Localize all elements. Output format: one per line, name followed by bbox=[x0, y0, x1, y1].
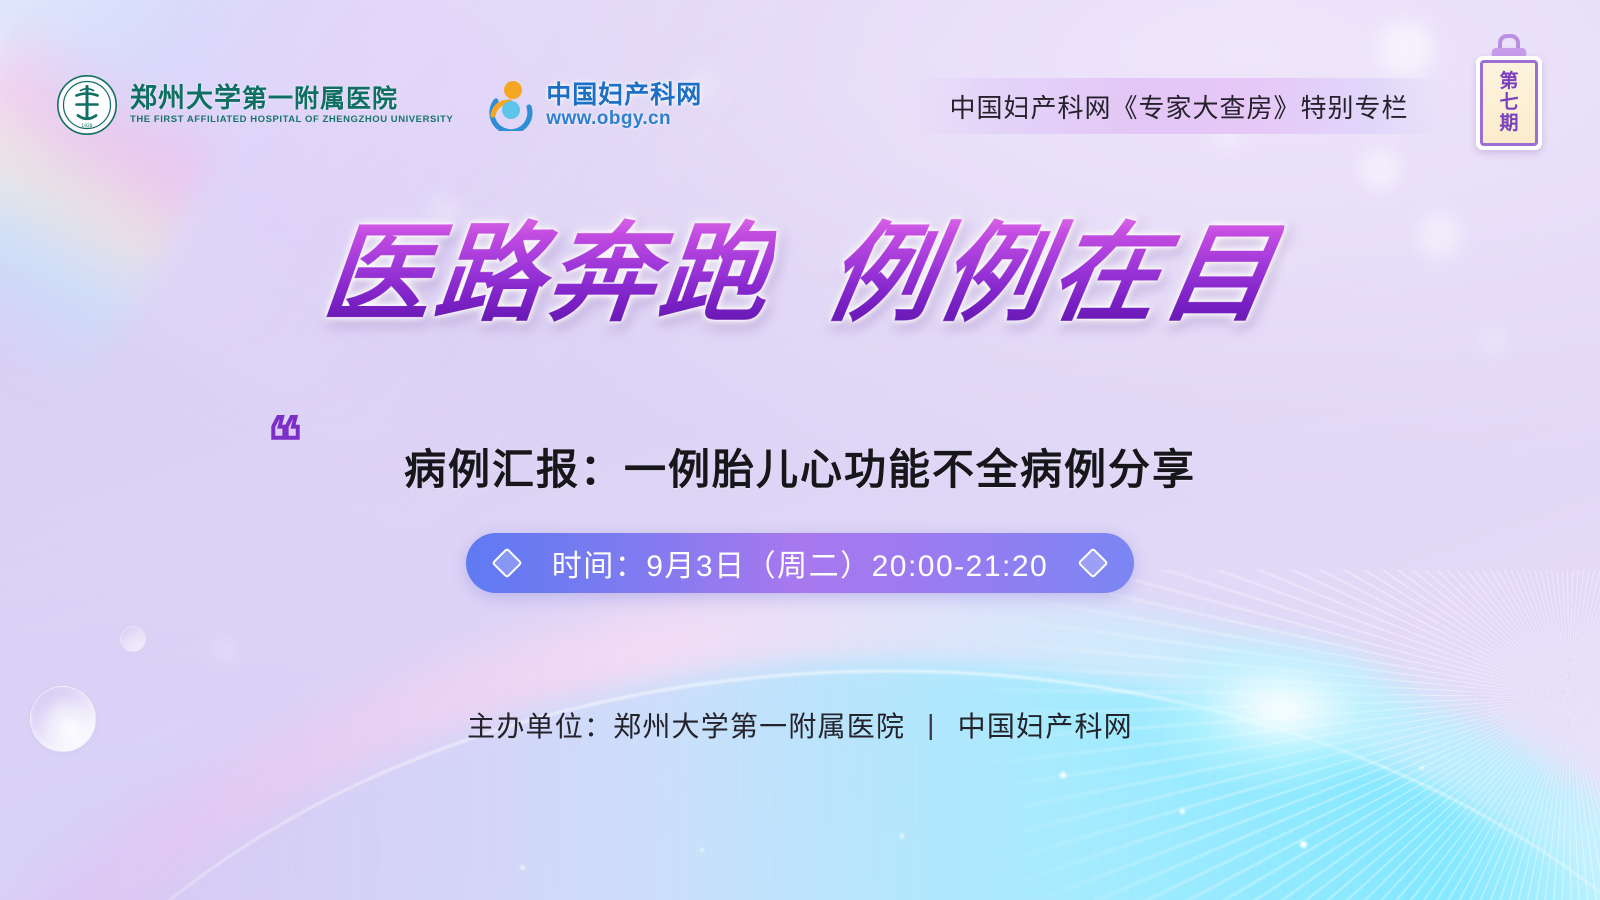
obgy-logo: 中国妇产科网 www.obgy.cn bbox=[487, 79, 702, 131]
hospital-logo: 1928 郑州大学第一附属医院 THE FIRST AFFILIATED HOS… bbox=[56, 74, 453, 136]
obgy-person-icon bbox=[487, 79, 537, 131]
organizer-name-1: 郑州大学第一附属医院 bbox=[613, 705, 905, 745]
organizer-label: 主办单位： bbox=[467, 705, 613, 745]
tag-char: 第 bbox=[1499, 72, 1518, 92]
tag-body: 第 七 期 bbox=[1476, 56, 1542, 150]
main-title-line-2: 例例在目 bbox=[817, 212, 1287, 336]
hospital-name-cn: 郑州大学第一附属医院 bbox=[130, 85, 453, 112]
quote-mark-icon: ❝ bbox=[268, 410, 299, 472]
tag-char: 期 bbox=[1499, 114, 1518, 134]
hospital-seal-icon: 1928 bbox=[56, 74, 118, 136]
poster-header: 1928 郑州大学第一附属医院 THE FIRST AFFILIATED HOS… bbox=[0, 0, 1600, 172]
bokeh-circle bbox=[215, 640, 235, 660]
column-banner-text: 中国妇产科网《专家大查房》特别专栏 bbox=[949, 88, 1408, 125]
organizer-row: 主办单位： 郑州大学第一附属医院 | 中国妇产科网 bbox=[0, 705, 1600, 745]
diamond-icon-right bbox=[1078, 547, 1109, 578]
poster-canvas: 1928 郑州大学第一附属医院 THE FIRST AFFILIATED HOS… bbox=[0, 0, 1600, 900]
tag-char: 七 bbox=[1499, 93, 1518, 113]
hospital-name-block: 郑州大学第一附属医院 THE FIRST AFFILIATED HOSPITAL… bbox=[130, 85, 453, 125]
tag-inner: 第 七 期 bbox=[1480, 60, 1538, 146]
main-title-line-1: 医路奔跑 bbox=[317, 212, 778, 336]
subtitle-text: 病例汇报：一例胎儿心功能不全病例分享 bbox=[404, 436, 1196, 497]
schedule-pill: 时间：9月3日（周二）20:00-21:20 bbox=[466, 533, 1135, 593]
obgy-url: www.obgy.cn bbox=[546, 109, 702, 128]
obgy-text-block: 中国妇产科网 www.obgy.cn bbox=[546, 82, 702, 128]
obgy-name-cn: 中国妇产科网 bbox=[546, 82, 702, 108]
hospital-name-en: THE FIRST AFFILIATED HOSPITAL OF ZHENGZH… bbox=[130, 115, 453, 125]
schedule-text: 时间：9月3日（周二）20:00-21:20 bbox=[552, 541, 1049, 585]
schedule-row: 时间：9月3日（周二）20:00-21:20 bbox=[0, 533, 1600, 593]
organizer-separator: | bbox=[905, 709, 957, 741]
organizer-name-2: 中国妇产科网 bbox=[958, 705, 1133, 745]
column-banner: 中国妇产科网《专家大查房》特别专栏 bbox=[914, 78, 1444, 134]
svg-text:1928: 1928 bbox=[81, 123, 92, 129]
subtitle-row: ❝ 病例汇报：一例胎儿心功能不全病例分享 bbox=[0, 418, 1600, 497]
episode-tag: 第 七 期 bbox=[1476, 34, 1542, 150]
diamond-icon-left bbox=[491, 547, 522, 578]
organizer-text: 主办单位： 郑州大学第一附属医院 | 中国妇产科网 bbox=[467, 705, 1133, 745]
pearl-bubble-decoration bbox=[120, 626, 146, 652]
logo-group: 1928 郑州大学第一附属医院 THE FIRST AFFILIATED HOS… bbox=[56, 74, 702, 136]
main-title: 医路奔跑 例例在目 bbox=[0, 212, 1600, 336]
